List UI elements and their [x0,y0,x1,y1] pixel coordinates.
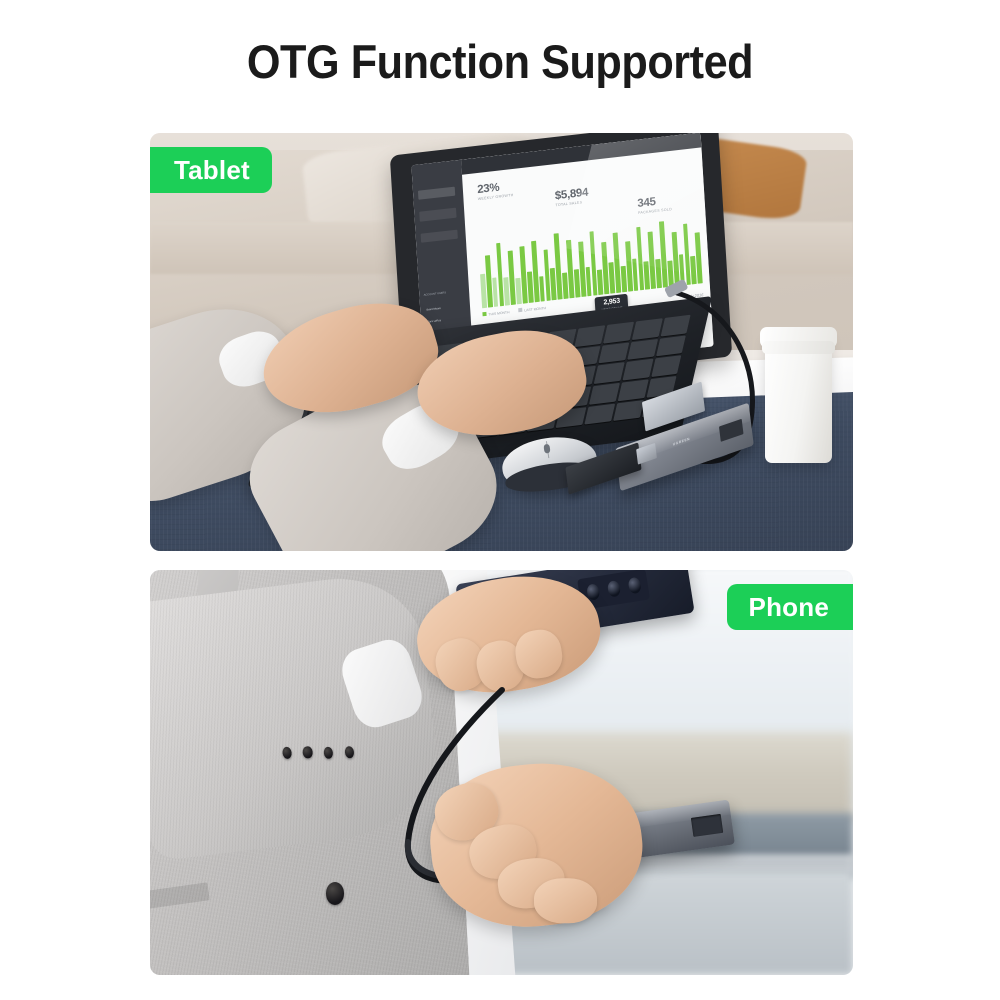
sleeve-button-icon [344,746,355,759]
tablet-scene-photo: 23% WEEKLY GROWTH $5,894 TOTAL SALES 345… [150,133,853,551]
finger [534,878,597,923]
coffee-cup [765,334,832,464]
sidebar-item[interactable] [421,229,458,243]
kpi-weekly-growth: 23% WEEKLY GROWTH [477,180,514,201]
product-marketing-page: OTG Function Supported 23% [0,0,1000,1000]
chart-bar [585,267,591,297]
sidebar-item[interactable] [420,208,457,222]
keyboard-key[interactable] [627,339,658,361]
keyboard-key[interactable] [585,404,616,426]
keyboard-key[interactable] [589,383,620,405]
badge-phone: Phone [727,584,853,630]
sleeve-button-icon [323,746,334,759]
page-title: OTG Function Supported [40,34,960,89]
chart-bar [539,276,545,301]
sales-bar-chart [478,210,703,308]
badge-phone-label: Phone [749,592,829,623]
camera-lens-icon [607,580,622,597]
suit-pocket [150,882,210,910]
keyboard-key[interactable] [599,342,630,364]
camera-lens-icon [628,577,643,594]
sleeve-button-icon [282,746,293,759]
keyboard-key[interactable] [604,322,635,344]
sidebar-user-item[interactable]: Brent Moore [427,307,441,312]
hub-usb-port [691,814,724,837]
badge-tablet-label: Tablet [174,155,250,186]
keyboard-key[interactable] [651,356,682,378]
keyboard-key[interactable] [656,335,687,357]
legend-swatch-icon [518,308,522,312]
kpi-total-sales: $5,894 TOTAL SALES [555,186,589,207]
keyboard-key[interactable] [613,400,644,422]
phone-scene-photo: UGREEN Phone [150,570,853,975]
keyboard-key[interactable] [575,326,606,348]
keyboard-key[interactable] [661,315,692,337]
keyboard-key[interactable] [623,359,654,381]
keyboard-key[interactable] [594,363,625,385]
mouse-scroll-wheel [543,444,551,453]
legend-item-this-month: THIS MONTH [482,310,509,318]
sidebar-heading: ACCOUNT USERS [424,291,446,297]
sidebar-item[interactable] [418,186,455,200]
keyboard-key[interactable] [618,380,649,402]
jacket-front-button-icon [326,882,344,905]
legend-item-last-month: LAST MONTH [518,306,546,314]
coffee-cup-lid-rim [762,341,834,354]
kpi-packages-sold: 345 PACKAGES SOLD [637,194,672,215]
camera-lens-icon [586,583,601,600]
keyboard-key[interactable] [632,319,663,341]
sleeve-button-icon [302,746,313,759]
bar-series [478,210,703,308]
chart-bar [492,277,498,307]
legend-swatch-icon [482,312,486,316]
badge-tablet: Tablet [150,147,272,193]
